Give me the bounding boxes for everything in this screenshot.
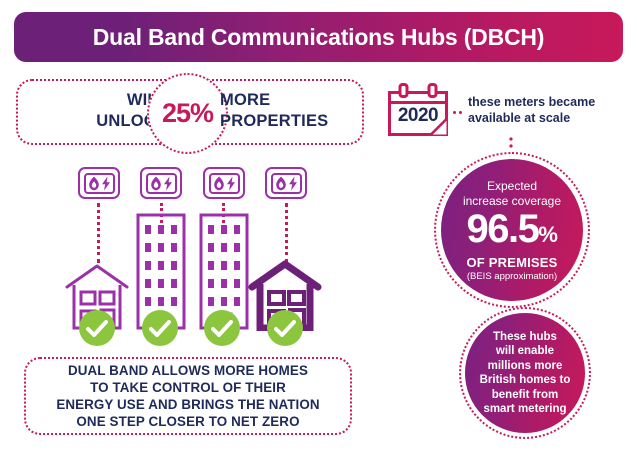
statement-text: DUAL BAND ALLOWS MORE HOMES TO TAKE CONT… [24,357,352,435]
coverage-value: 96.5% [467,210,558,254]
coverage-label-line1: Expected [463,179,561,194]
meter-2 [140,167,182,199]
calendar-caption-line2: available at scale [468,110,628,126]
check-icon [149,320,171,337]
coverage-subtitle: OF PREMISES [466,255,557,270]
flame-icon [213,176,225,191]
check-badge-3 [204,310,240,346]
calendar-caption-dots [453,111,465,115]
page-title: Dual Band Communications Hubs (DBCH) [93,24,545,51]
statement-line4: ONE STEP CLOSER TO NET ZERO [76,413,299,430]
percent-callout-circle: 25% [147,73,228,154]
calendar-caption-line1: these meters became [468,94,628,110]
lightning-bolt-icon [288,176,298,191]
hubs-text: These hubs will enable millions more Bri… [474,330,577,417]
hubs-text-line5: benefit from [480,388,571,403]
meter-inner-frame [209,173,240,194]
check-icon [86,320,108,337]
check-icon [211,320,233,337]
title-banner: Dual Band Communications Hubs (DBCH) [14,12,623,62]
lightning-bolt-icon [226,176,236,191]
lightning-bolt-icon [163,176,173,191]
coverage-note: (BEIS approximation) [467,271,557,282]
calendar-year-label: 2020 [386,105,450,127]
flame-icon [88,176,100,191]
check-badge-4 [267,310,303,346]
flame-icon [150,176,162,191]
lightning-bolt-icon [101,176,111,191]
dot [453,111,456,114]
dot [459,111,462,114]
meter-4 [265,167,307,199]
hubs-text-line1: These hubs [480,330,571,345]
statement-line1: DUAL BAND ALLOWS MORE HOMES [68,362,308,379]
hubs-text-line4: British homes to [480,373,571,388]
coverage-circle: Expected increase coverage 96.5% OF PREM… [441,159,583,301]
unlock-suffix-line1: MORE [220,90,350,111]
unlock-suffix-label: MORE PROPERTIES [220,90,350,132]
calendar-icon: 2020 [386,82,450,144]
hubs-text-line2: will enable [480,344,571,359]
meter-inner-frame [146,173,177,194]
connector-4 [285,203,291,263]
flame-icon [275,176,287,191]
coverage-circle-group: Expected increase coverage 96.5% OF PREM… [434,152,590,308]
connector-1 [97,203,103,263]
coverage-value-number: 96.5 [467,207,539,251]
percent-value: 25% [162,98,213,129]
hubs-circle: These hubs will enable millions more Bri… [465,313,585,433]
meter-3 [203,167,245,199]
coverage-value-unit: % [538,222,557,247]
hubs-text-line6: smart metering [480,402,571,417]
hubs-text-line3: millions more [480,359,571,374]
unlock-properties-panel: WILL UNLOCK 25% MORE PROPERTIES [16,79,364,145]
check-badge-1 [79,310,115,346]
coverage-label: Expected increase coverage [451,179,573,209]
statement-line3: ENERGY USE AND BRINGS THE NATION [56,396,319,413]
hubs-circle-group: These hubs will enable millions more Bri… [459,307,591,439]
meter-1 [78,167,120,199]
meter-inner-frame [271,173,302,194]
statement-line2: TO TAKE CONTROL OF THEIR [90,379,286,396]
calendar-caption: these meters became available at scale [468,94,628,126]
meter-inner-frame [84,173,115,194]
check-icon [274,320,296,337]
check-badge-2 [142,310,178,346]
statement-panel: DUAL BAND ALLOWS MORE HOMES TO TAKE CONT… [24,357,352,435]
unlock-suffix-line2: PROPERTIES [220,111,350,132]
